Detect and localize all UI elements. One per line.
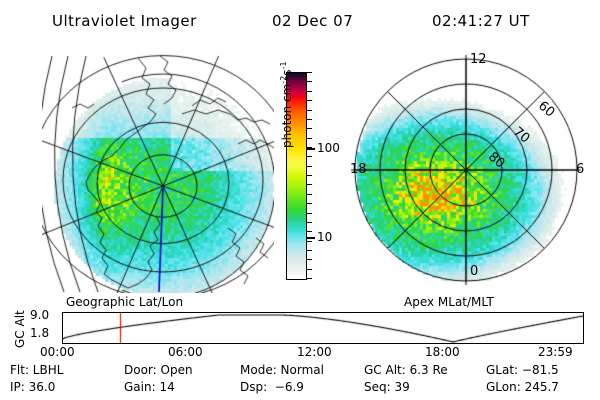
altitude-ytick-high: 9.0 — [30, 309, 49, 321]
instrument-title: Ultraviolet Imager — [52, 14, 197, 29]
colorbar: photon cm-2s-1 100 10 — [282, 60, 344, 290]
colorbar-tick — [306, 119, 312, 120]
status-seq: Seq: 39 — [364, 381, 410, 393]
colorbar-tick — [306, 110, 312, 111]
status-block: Flt: LBHL Door: Open Mode: Normal GC Alt… — [0, 362, 600, 398]
altitude-trace — [62, 312, 584, 344]
observation-time: 02:41:27 UT — [432, 14, 530, 29]
altitude-xtick-0600: 06:00 — [168, 346, 203, 358]
colorbar-tick — [306, 259, 312, 260]
observation-date: 02 Dec 07 — [272, 14, 353, 29]
altitude-xtick-1200: 12:00 — [297, 346, 332, 358]
status-dsp: Dsp: −6.9 — [240, 381, 304, 393]
colorbar-tick — [306, 156, 312, 157]
altitude-plot: GC Alt 9.0 1.8 00:00 06:00 12:00 18:00 2… — [0, 308, 600, 354]
apex-image — [348, 50, 588, 292]
status-door: Door: Open — [124, 364, 193, 376]
colorbar-tick — [306, 81, 312, 82]
status-glon: GLon: 245.7 — [486, 381, 559, 393]
colorbar-tick — [306, 72, 312, 73]
colorbar-tick — [306, 213, 312, 214]
colorbar-tick-major — [306, 237, 315, 239]
mlt-label-0: 0 — [470, 264, 478, 279]
geographic-image — [42, 48, 274, 293]
status-gc-alt: GC Alt: 6.3 Re — [364, 364, 448, 376]
colorbar-tick — [306, 138, 312, 139]
altitude-ylabel: GC Alt — [14, 310, 26, 348]
colorbar-tick — [306, 269, 312, 270]
colorbar-tick-label-10: 10 — [317, 231, 332, 243]
colorbar-tick-label-100: 100 — [317, 142, 340, 154]
colorbar-unit-exp2: -1 — [279, 61, 288, 69]
colorbar-tick — [306, 278, 312, 279]
colorbar-tick-major — [306, 148, 315, 150]
colorbar-tick — [306, 194, 312, 195]
mlt-label-12: 12 — [470, 52, 487, 67]
colorbar-tick — [306, 91, 312, 92]
geographic-panel — [42, 48, 274, 293]
colorbar-tick — [306, 203, 312, 204]
colorbar-tick — [306, 231, 312, 232]
status-glat: GLat: −81.5 — [486, 364, 559, 376]
colorbar-tick — [306, 175, 312, 176]
uvi-screenshot: Ultraviolet Imager 02 Dec 07 02:41:27 UT… — [0, 0, 600, 400]
altitude-xtick-1800: 18:00 — [425, 346, 460, 358]
colorbar-tick — [306, 100, 312, 101]
header-bar: Ultraviolet Imager 02 Dec 07 02:41:27 UT — [0, 6, 600, 30]
colorbar-tick — [306, 128, 312, 129]
colorbar-tick — [306, 250, 312, 251]
colorbar-tick — [306, 222, 312, 223]
altitude-xtick-0000: 00:00 — [40, 346, 75, 358]
status-mode: Mode: Normal — [240, 364, 324, 376]
status-filter: Flt: LBHL — [10, 364, 63, 376]
colorbar-unit-main: photon cm — [280, 84, 294, 148]
colorbar-axis-label: photon cm-2s-1 — [280, 61, 293, 148]
apex-caption: Apex MLat/MLT — [404, 296, 494, 308]
altitude-ytick-low: 1.8 — [30, 327, 49, 339]
colorbar-tick — [306, 241, 312, 242]
altitude-xtick-2359: 23:59 — [538, 346, 573, 358]
geographic-caption: Geographic Lat/Lon — [66, 296, 183, 308]
status-ip: IP: 36.0 — [10, 381, 55, 393]
mlt-label-18: 18 — [350, 162, 367, 177]
status-gain: Gain: 14 — [124, 381, 175, 393]
colorbar-tick — [306, 166, 312, 167]
mlt-label-6: 6 — [576, 162, 584, 177]
colorbar-tick — [306, 184, 312, 185]
colorbar-unit-mid: s — [280, 69, 294, 75]
colorbar-unit-exp1: -2 — [279, 76, 288, 84]
apex-panel: 12 6 0 18 60 70 80 — [348, 50, 588, 292]
